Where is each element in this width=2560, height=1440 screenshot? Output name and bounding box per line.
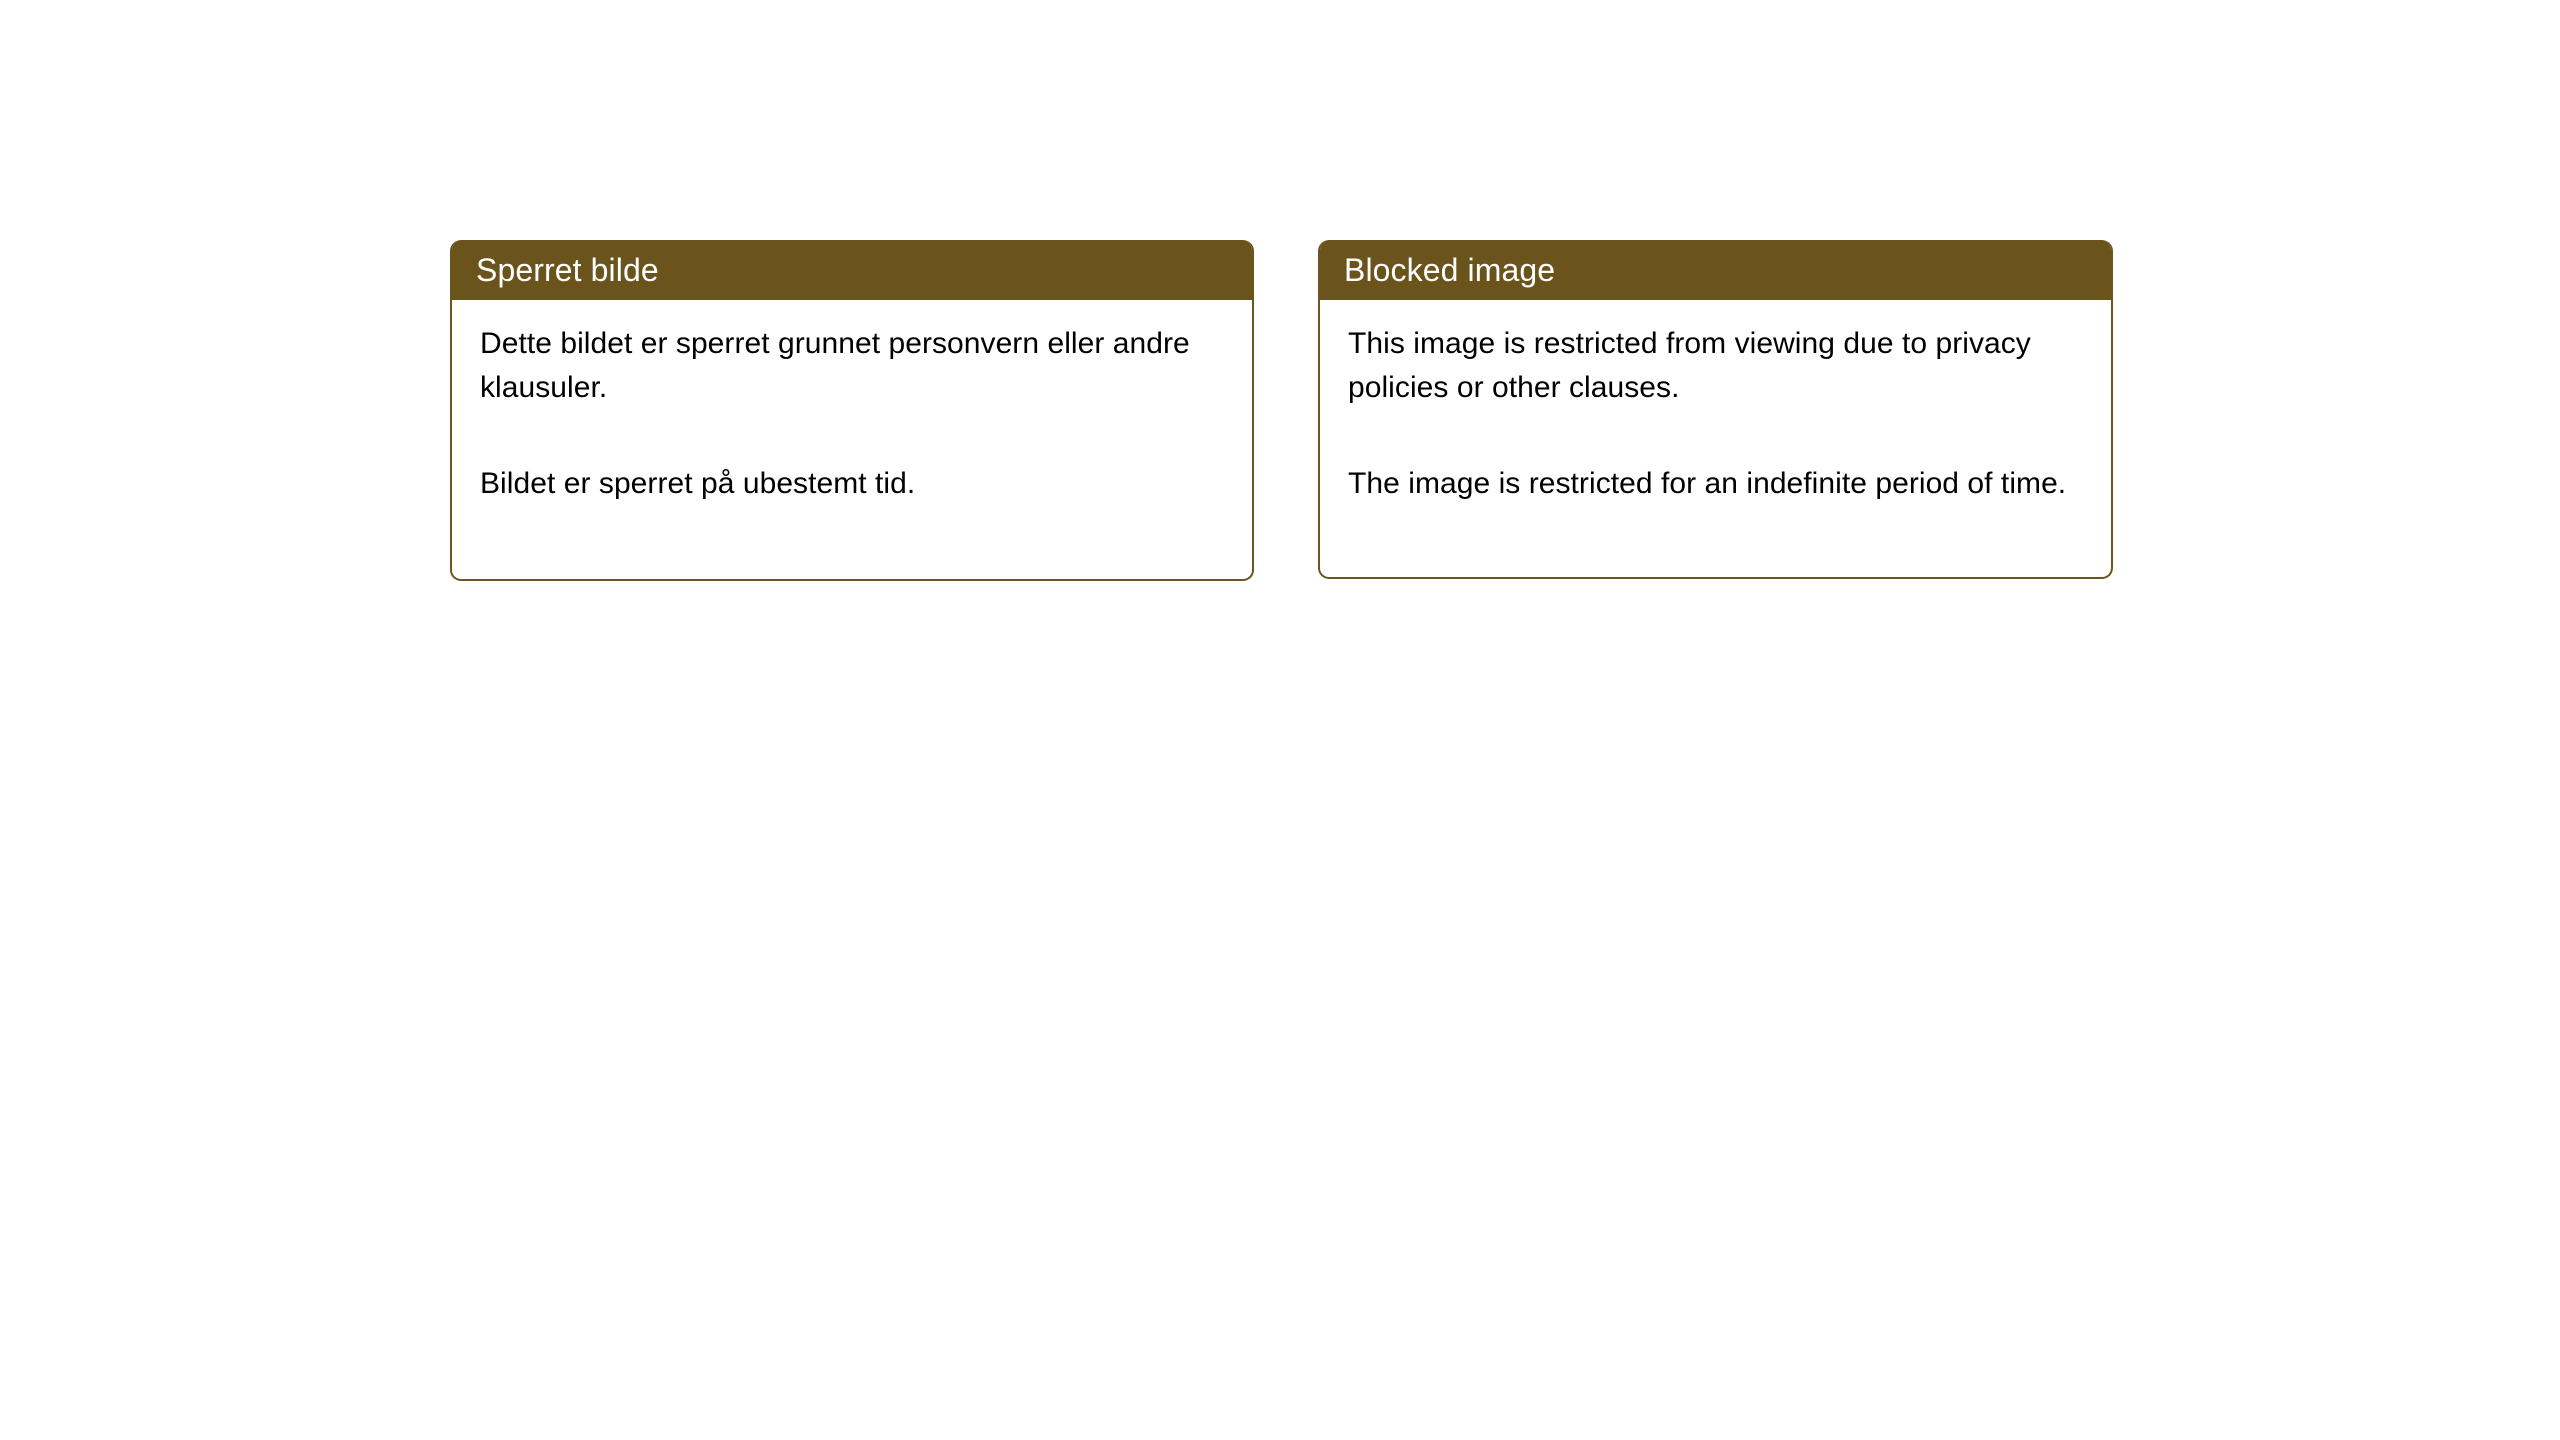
card-title: Sperret bilde	[476, 252, 659, 288]
blocked-image-card-english: Blocked image This image is restricted f…	[1318, 240, 2113, 579]
page-canvas: Sperret bilde Dette bildet er sperret gr…	[0, 0, 2560, 1440]
card-header: Blocked image	[1318, 240, 2113, 300]
card-header: Sperret bilde	[450, 240, 1254, 300]
card-paragraph-reason: Dette bildet er sperret grunnet personve…	[480, 322, 1228, 410]
blocked-image-card-norwegian: Sperret bilde Dette bildet er sperret gr…	[450, 240, 1254, 581]
card-paragraph-reason: This image is restricted from viewing du…	[1348, 322, 2087, 410]
card-paragraph-duration: Bildet er sperret på ubestemt tid.	[480, 462, 1228, 506]
card-body: Dette bildet er sperret grunnet personve…	[452, 300, 1252, 506]
card-body: This image is restricted from viewing du…	[1320, 300, 2111, 506]
card-title: Blocked image	[1344, 252, 1555, 288]
card-paragraph-duration: The image is restricted for an indefinit…	[1348, 462, 2087, 506]
